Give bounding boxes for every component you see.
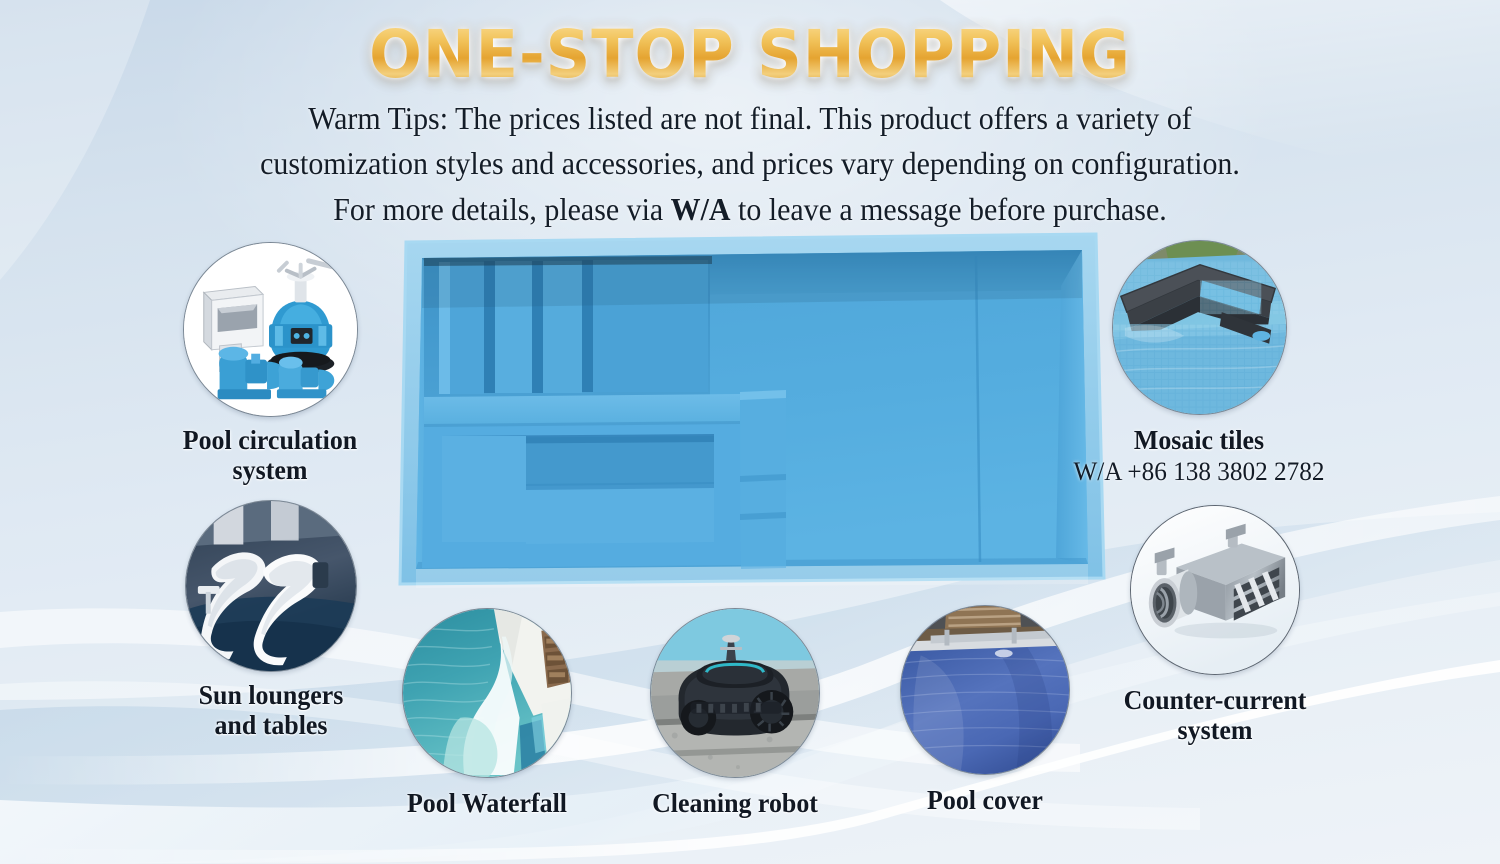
feature-pool-waterfall[interactable]: Pool Waterfall <box>402 608 592 818</box>
poster-canvas: ONE-STOP SHOPPING Warm Tips: The prices … <box>0 0 1500 864</box>
warm-tips-text: Warm Tips: The prices listed are not fin… <box>152 96 1349 232</box>
pool-waterfall-image[interactable] <box>402 608 572 778</box>
cleaning-robot-image[interactable] <box>650 608 820 778</box>
waterfall-icon <box>403 609 571 777</box>
feature-pool-circulation-system[interactable]: Pool circulation system <box>183 242 385 485</box>
whatsapp-abbrev: W/A <box>671 192 731 227</box>
tips-line-1: Warm Tips: The prices listed are not fin… <box>152 96 1349 141</box>
pool-cover-image[interactable] <box>900 605 1070 775</box>
feature-label: Pool Waterfall <box>386 788 588 818</box>
robot-icon <box>651 609 819 777</box>
mosaic-icon <box>1113 241 1286 414</box>
tips-line-2: customization styles and accessories, an… <box>152 141 1349 186</box>
feature-label: Pool circulation system <box>160 425 381 485</box>
pump-filter-icon <box>184 243 357 416</box>
pool-circulation-system-image[interactable] <box>183 242 358 417</box>
counter-current-image[interactable] <box>1130 505 1300 675</box>
feature-counter-current-system[interactable]: Counter-current system <box>1130 505 1340 745</box>
cover-icon <box>901 606 1069 774</box>
page-title: ONE-STOP SHOPPING <box>45 0 1455 88</box>
whatsapp-contact[interactable]: W/A +86 138 3802 2782 <box>1024 457 1373 487</box>
lounger-icon <box>186 501 356 671</box>
pool-bench <box>422 424 741 568</box>
feature-cleaning-robot[interactable]: Cleaning robot <box>650 608 840 818</box>
jet-icon <box>1131 506 1299 674</box>
feature-sun-loungers-and-tables[interactable]: Sun loungers and tables <box>185 500 381 740</box>
feature-label: Cleaning robot <box>634 788 836 818</box>
feature-label: Counter-current system <box>1095 685 1335 745</box>
mosaic-tiles-image[interactable] <box>1112 240 1287 415</box>
tips-line-3-a: For more details, please via <box>333 192 670 227</box>
feature-mosaic-tiles[interactable]: Mosaic tiles W/A +86 138 3802 2782 <box>1112 240 1379 487</box>
tips-line-3: For more details, please via W/A to leav… <box>152 187 1349 232</box>
pool-graphic <box>396 228 1106 593</box>
fiberglass-pool-shell <box>396 228 1106 593</box>
feature-label: Pool cover <box>884 785 1086 815</box>
header: ONE-STOP SHOPPING Warm Tips: The prices … <box>0 0 1500 232</box>
tips-line-3-c: to leave a message before purchase. <box>731 192 1167 227</box>
feature-label: Mosaic tiles <box>1089 425 1310 455</box>
feature-label: Sun loungers and tables <box>165 680 376 740</box>
sun-loungers-image[interactable] <box>185 500 357 672</box>
feature-pool-cover[interactable]: Pool cover <box>900 605 1090 815</box>
